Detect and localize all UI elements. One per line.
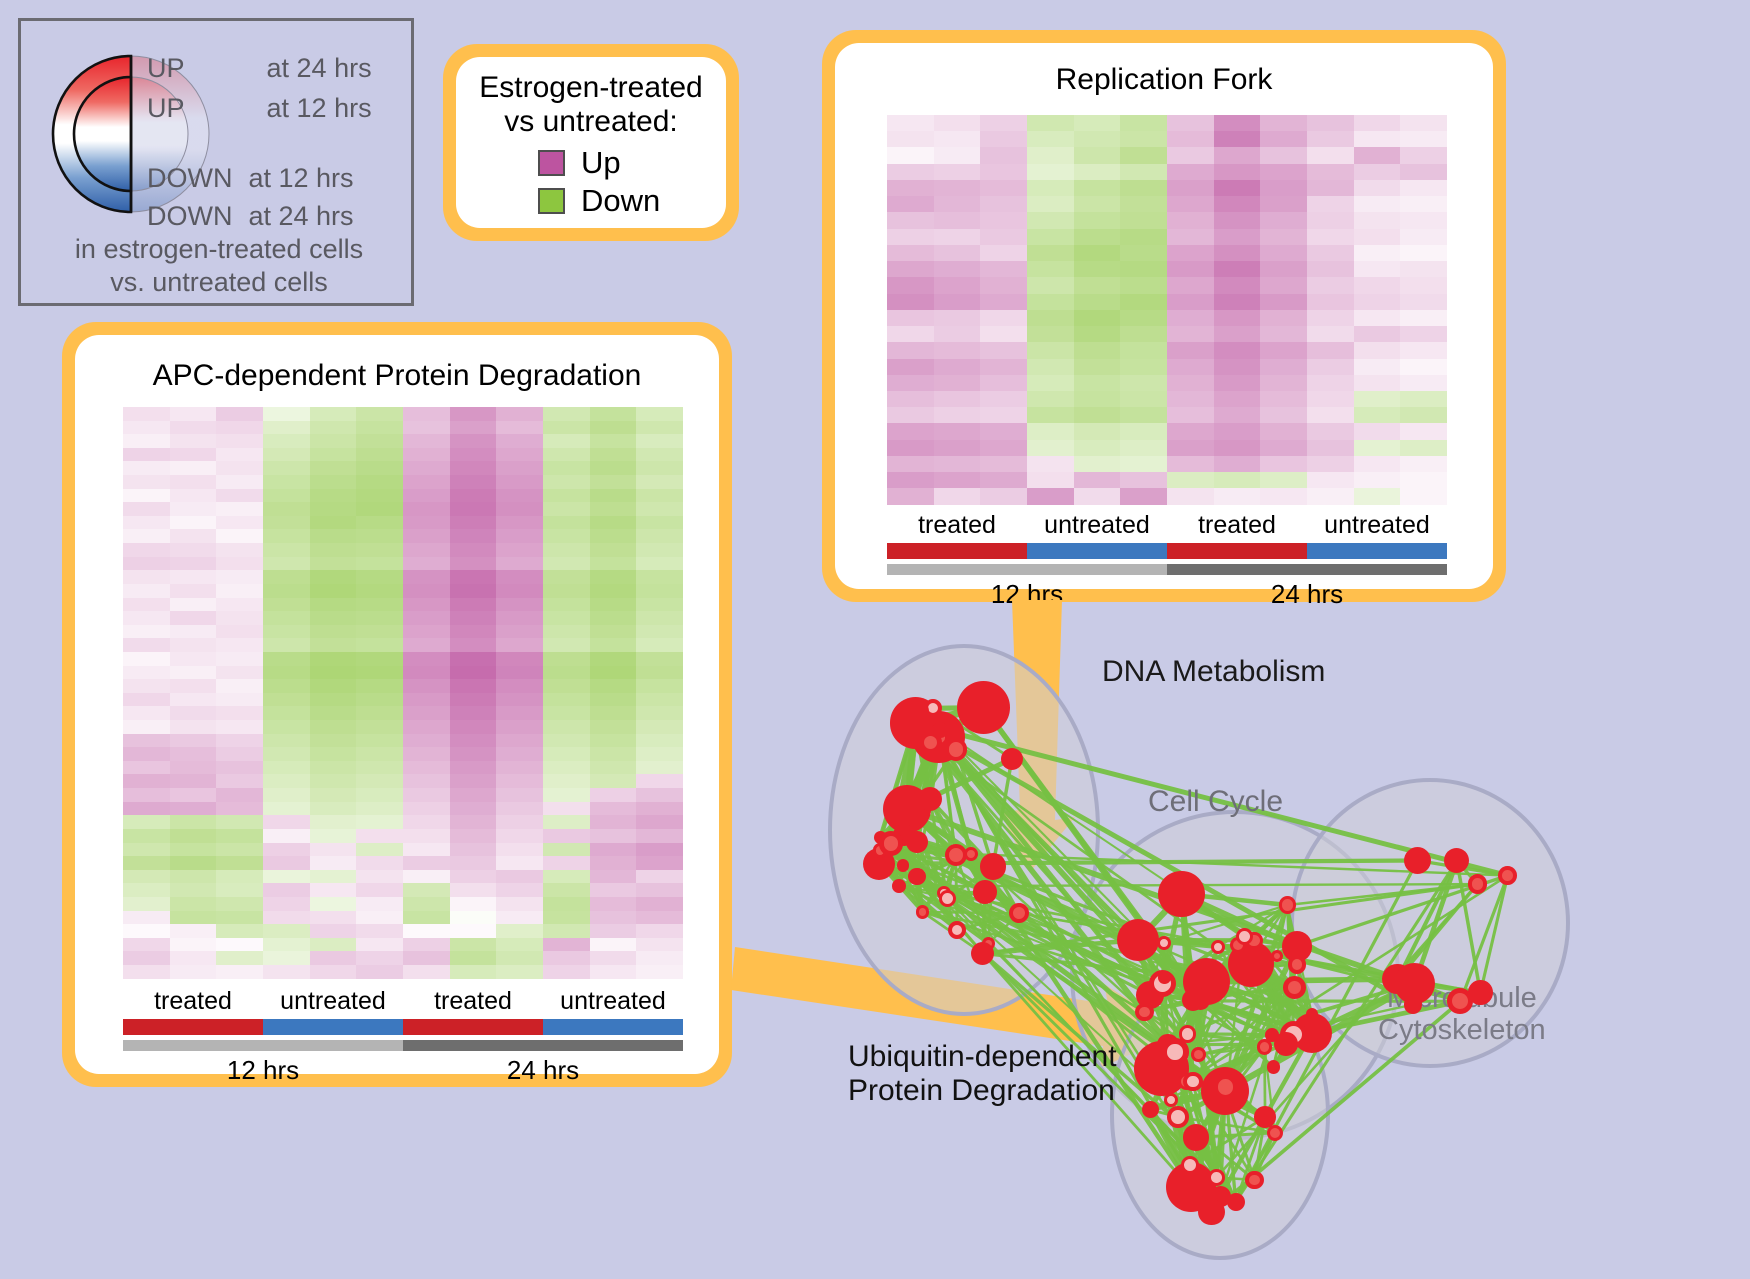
heatmap-cell bbox=[1400, 391, 1447, 407]
network-node[interactable] bbox=[1245, 1171, 1264, 1190]
heatmap-cell bbox=[1167, 229, 1214, 245]
heatmap-cell bbox=[934, 115, 981, 131]
heatmap-cell bbox=[543, 815, 590, 829]
heatmap-cell bbox=[1120, 164, 1167, 180]
network-node[interactable] bbox=[1274, 1032, 1298, 1056]
heatmap-cell bbox=[403, 693, 450, 707]
heatmap-cell bbox=[1400, 456, 1447, 472]
network-node[interactable] bbox=[1404, 995, 1422, 1013]
heatmap-cell bbox=[123, 706, 170, 720]
network-node[interactable] bbox=[1236, 928, 1253, 945]
heatmap-cell bbox=[1214, 391, 1261, 407]
heatmap-cell bbox=[1074, 326, 1121, 342]
network-node[interactable] bbox=[1183, 1124, 1209, 1150]
heatmap-cell bbox=[403, 761, 450, 775]
heatmap-cell bbox=[496, 461, 543, 475]
heatmap-row bbox=[887, 359, 1447, 375]
network-node[interactable] bbox=[1227, 1193, 1245, 1211]
heatmap-cell bbox=[170, 598, 217, 612]
heatmap-cell bbox=[216, 543, 263, 557]
color-key-time: at 12 hrs bbox=[267, 93, 372, 124]
network-node[interactable] bbox=[1257, 1039, 1273, 1055]
heatmap-cell bbox=[1307, 261, 1354, 277]
heatmap-row bbox=[123, 666, 683, 680]
heatmap-cell bbox=[356, 652, 403, 666]
network-node[interactable] bbox=[1211, 940, 1225, 954]
heatmap-cell bbox=[1167, 115, 1214, 131]
heatmap-cell bbox=[590, 693, 637, 707]
heatmap-cell bbox=[263, 802, 310, 816]
heatmap-cell bbox=[216, 448, 263, 462]
legend-item-down: Down bbox=[538, 183, 726, 219]
heatmap-cell bbox=[1400, 310, 1447, 326]
heatmap-cell bbox=[543, 788, 590, 802]
heatmap-cell bbox=[356, 815, 403, 829]
heatmap-cell bbox=[496, 693, 543, 707]
network-node[interactable] bbox=[879, 831, 904, 856]
network-node[interactable] bbox=[1167, 1106, 1189, 1128]
color-key-label: DOWN bbox=[147, 163, 232, 194]
heatmap-cell bbox=[934, 245, 981, 261]
heatmap-cell bbox=[170, 625, 217, 639]
heatmap-cell bbox=[636, 570, 683, 584]
heatmap-cell bbox=[450, 584, 497, 598]
heatmap-cell bbox=[263, 747, 310, 761]
network-node[interactable] bbox=[1288, 955, 1307, 974]
heatmap-row bbox=[123, 815, 683, 829]
heatmap-cell bbox=[403, 652, 450, 666]
heatmap-cell bbox=[543, 421, 590, 435]
heatmap-cell bbox=[123, 448, 170, 462]
heatmap-cell bbox=[123, 407, 170, 421]
heatmap-cell bbox=[263, 788, 310, 802]
heatmap-cell bbox=[636, 693, 683, 707]
heatmap-cell bbox=[590, 475, 637, 489]
heatmap-cell bbox=[403, 570, 450, 584]
network-node[interactable] bbox=[1212, 1073, 1240, 1101]
heatmap-cell bbox=[1260, 115, 1307, 131]
heatmap-cell bbox=[636, 938, 683, 952]
network-node[interactable] bbox=[1279, 896, 1296, 913]
heatmap-cell bbox=[123, 529, 170, 543]
heatmap-row bbox=[887, 423, 1447, 439]
heatmap-cell bbox=[216, 856, 263, 870]
heatmap-row bbox=[123, 706, 683, 720]
heatmap-cell bbox=[1260, 423, 1307, 439]
heatmap-cell bbox=[887, 180, 934, 196]
heatmap-cell bbox=[216, 529, 263, 543]
heatmap-cell bbox=[543, 802, 590, 816]
heatmap-cell bbox=[310, 611, 357, 625]
heatmap-cell bbox=[887, 212, 934, 228]
heatmap-cell bbox=[887, 391, 934, 407]
network-node[interactable] bbox=[1001, 748, 1023, 770]
heatmap-cell bbox=[1120, 440, 1167, 456]
heatmap-cell bbox=[356, 625, 403, 639]
heatmap-cell bbox=[543, 502, 590, 516]
heatmap-cell bbox=[1307, 375, 1354, 391]
heatmap-row bbox=[887, 196, 1447, 212]
network-node[interactable] bbox=[897, 859, 909, 871]
heatmap-cell bbox=[1074, 180, 1121, 196]
heatmap-cell bbox=[216, 911, 263, 925]
heatmap-cell bbox=[403, 951, 450, 965]
heatmap-cell bbox=[590, 843, 637, 857]
heatmap-cell bbox=[590, 489, 637, 503]
heatmap-cell bbox=[450, 965, 497, 979]
heatmap-cell bbox=[543, 856, 590, 870]
group-bar-untreated-12 bbox=[263, 1019, 403, 1035]
heatmap-cell bbox=[1354, 310, 1401, 326]
network-node[interactable] bbox=[916, 905, 929, 918]
network-node[interactable] bbox=[980, 853, 1007, 880]
heatmap-cell bbox=[1307, 359, 1354, 375]
heatmap-cell bbox=[450, 557, 497, 571]
heatmap-cell bbox=[403, 584, 450, 598]
heatmap-cell bbox=[123, 638, 170, 652]
heatmap-cell bbox=[450, 434, 497, 448]
heatmap-cell bbox=[263, 502, 310, 516]
heatmap-cell bbox=[123, 747, 170, 761]
heatmap-cell bbox=[636, 774, 683, 788]
heatmap-row bbox=[123, 761, 683, 775]
heatmap-row bbox=[887, 342, 1447, 358]
heatmap-cell bbox=[1120, 391, 1167, 407]
heatmap-cell bbox=[887, 342, 934, 358]
heatmap-cell bbox=[1354, 423, 1401, 439]
heatmap-cell bbox=[496, 802, 543, 816]
heatmap-cell bbox=[636, 856, 683, 870]
heatmap-row bbox=[887, 245, 1447, 261]
heatmap-cell bbox=[450, 761, 497, 775]
legend-title: Estrogen-treated vs untreated: bbox=[456, 71, 726, 139]
network-node[interactable] bbox=[1498, 866, 1517, 885]
heatmap-cell bbox=[1260, 310, 1307, 326]
heatmap-cell bbox=[590, 516, 637, 530]
heatmap-cell bbox=[1120, 180, 1167, 196]
heatmap-cell bbox=[356, 870, 403, 884]
heatmap-cell bbox=[636, 720, 683, 734]
heatmap-cell bbox=[636, 734, 683, 748]
replication-fork-group-labels: treated untreated treated untreated bbox=[887, 511, 1447, 540]
color-key-footer-line1: in estrogen-treated cells bbox=[21, 233, 417, 266]
heatmap-cell bbox=[216, 557, 263, 571]
heatmap-cell bbox=[636, 802, 683, 816]
heatmap-cell bbox=[543, 679, 590, 693]
heatmap-cell bbox=[1214, 229, 1261, 245]
heatmap-row bbox=[123, 598, 683, 612]
heatmap-cell bbox=[1354, 294, 1401, 310]
heatmap-cell bbox=[356, 529, 403, 543]
group-bar-treated-24 bbox=[403, 1019, 543, 1035]
heatmap-cell bbox=[1307, 407, 1354, 423]
heatmap-cell bbox=[1400, 147, 1447, 163]
heatmap-cell bbox=[1307, 423, 1354, 439]
heatmap-cell bbox=[1307, 164, 1354, 180]
heatmap-cell bbox=[887, 423, 934, 439]
heatmap-row bbox=[887, 147, 1447, 163]
heatmap-cell bbox=[216, 870, 263, 884]
heatmap-cell bbox=[1260, 180, 1307, 196]
heatmap-row bbox=[123, 870, 683, 884]
heatmap-row bbox=[887, 261, 1447, 277]
heatmap-cell bbox=[980, 359, 1027, 375]
heatmap-cell bbox=[636, 625, 683, 639]
network-node[interactable] bbox=[1267, 1125, 1283, 1141]
heatmap-cell bbox=[170, 693, 217, 707]
color-key-time: at 24 hrs bbox=[267, 53, 372, 84]
heatmap-cell bbox=[1307, 294, 1354, 310]
heatmap-cell bbox=[123, 870, 170, 884]
replication-fork-time-labels: 12 hrs 24 hrs bbox=[887, 579, 1447, 610]
heatmap-cell bbox=[310, 856, 357, 870]
heatmap-cell bbox=[123, 557, 170, 571]
heatmap-cell bbox=[216, 652, 263, 666]
heatmap-cell bbox=[496, 448, 543, 462]
heatmap-cell bbox=[310, 843, 357, 857]
heatmap-cell bbox=[1074, 164, 1121, 180]
heatmap-cell bbox=[216, 434, 263, 448]
heatmap-row bbox=[887, 310, 1447, 326]
heatmap-cell bbox=[403, 747, 450, 761]
heatmap-cell bbox=[1167, 196, 1214, 212]
heatmap-cell bbox=[496, 829, 543, 843]
heatmap-cell bbox=[496, 421, 543, 435]
network-node[interactable] bbox=[1191, 1047, 1206, 1062]
heatmap-cell bbox=[263, 461, 310, 475]
heatmap-cell bbox=[403, 543, 450, 557]
heatmap-cell bbox=[450, 611, 497, 625]
heatmap-cell bbox=[263, 924, 310, 938]
heatmap-row bbox=[123, 774, 683, 788]
heatmap-cell bbox=[310, 543, 357, 557]
heatmap-cell bbox=[1074, 131, 1121, 147]
network-node[interactable] bbox=[1135, 1003, 1154, 1022]
heatmap-cell bbox=[636, 911, 683, 925]
heatmap-cell bbox=[450, 747, 497, 761]
heatmap-cell bbox=[263, 706, 310, 720]
heatmap-cell bbox=[1260, 229, 1307, 245]
heatmap-cell bbox=[1074, 472, 1121, 488]
heatmap-cell bbox=[1307, 310, 1354, 326]
heatmap-cell bbox=[356, 924, 403, 938]
heatmap-cell bbox=[543, 951, 590, 965]
heatmap-cell bbox=[543, 529, 590, 543]
heatmap-cell bbox=[1354, 440, 1401, 456]
heatmap-cell bbox=[496, 570, 543, 584]
heatmap-cell bbox=[403, 965, 450, 979]
heatmap-cell bbox=[356, 421, 403, 435]
heatmap-cell bbox=[543, 489, 590, 503]
heatmap-row bbox=[887, 456, 1447, 472]
heatmap-cell bbox=[1214, 180, 1261, 196]
heatmap-row bbox=[123, 897, 683, 911]
cluster-label-cell-cycle: Cell Cycle bbox=[1148, 785, 1283, 819]
network-node[interactable] bbox=[1158, 871, 1204, 917]
heatmap-cell bbox=[543, 407, 590, 421]
network-node[interactable] bbox=[957, 681, 1010, 734]
heatmap-cell bbox=[636, 666, 683, 680]
legend-panel: Estrogen-treated vs untreated: Up Down bbox=[443, 44, 739, 241]
network-node[interactable] bbox=[1283, 976, 1306, 999]
heatmap-cell bbox=[636, 638, 683, 652]
network-node[interactable] bbox=[1208, 1169, 1225, 1186]
heatmap-cell bbox=[496, 407, 543, 421]
heatmap-cell bbox=[263, 611, 310, 625]
heatmap-cell bbox=[216, 625, 263, 639]
heatmap-cell bbox=[543, 761, 590, 775]
heatmap-cell bbox=[450, 883, 497, 897]
legend-item-label: Up bbox=[581, 145, 621, 181]
heatmap-cell bbox=[1214, 196, 1261, 212]
heatmap-cell bbox=[1260, 326, 1307, 342]
network-node[interactable] bbox=[1164, 1093, 1178, 1107]
heatmap-cell bbox=[170, 652, 217, 666]
heatmap-cell bbox=[1074, 245, 1121, 261]
heatmap-cell bbox=[1120, 196, 1167, 212]
heatmap-cell bbox=[1074, 196, 1121, 212]
network-node[interactable] bbox=[892, 879, 906, 893]
heatmap-cell bbox=[1354, 245, 1401, 261]
heatmap-cell bbox=[1027, 488, 1074, 504]
heatmap-cell bbox=[310, 407, 357, 421]
heatmap-cell bbox=[310, 802, 357, 816]
heatmap-cell bbox=[450, 802, 497, 816]
heatmap-cell bbox=[1167, 131, 1214, 147]
heatmap-cell bbox=[1307, 456, 1354, 472]
network-node[interactable] bbox=[1271, 950, 1283, 962]
heatmap-cell bbox=[496, 924, 543, 938]
heatmap-cell bbox=[263, 734, 310, 748]
heatmap-cell bbox=[496, 652, 543, 666]
network-node[interactable] bbox=[1117, 919, 1159, 961]
heatmap-cell bbox=[1400, 115, 1447, 131]
heatmap-cell bbox=[1260, 147, 1307, 163]
heatmap-cell bbox=[1167, 180, 1214, 196]
heatmap-cell bbox=[1120, 407, 1167, 423]
heatmap-cell bbox=[1027, 196, 1074, 212]
heatmap-cell bbox=[496, 666, 543, 680]
heatmap-cell bbox=[450, 638, 497, 652]
network-node[interactable] bbox=[906, 831, 928, 853]
heatmap-cell bbox=[450, 734, 497, 748]
heatmap-cell bbox=[356, 448, 403, 462]
heatmap-cell bbox=[450, 951, 497, 965]
heatmap-cell bbox=[1027, 180, 1074, 196]
heatmap-cell bbox=[934, 407, 981, 423]
heatmap-cell bbox=[123, 502, 170, 516]
heatmap-cell bbox=[636, 529, 683, 543]
heatmap-cell bbox=[1214, 245, 1261, 261]
group-label: treated bbox=[887, 511, 1027, 540]
heatmap-cell bbox=[310, 448, 357, 462]
heatmap-cell bbox=[1074, 229, 1121, 245]
heatmap-cell bbox=[123, 856, 170, 870]
heatmap-cell bbox=[263, 529, 310, 543]
heatmap-cell bbox=[123, 734, 170, 748]
network-node[interactable] bbox=[973, 880, 997, 904]
heatmap-cell bbox=[980, 229, 1027, 245]
heatmap-cell bbox=[263, 829, 310, 843]
network-node[interactable] bbox=[1158, 971, 1171, 984]
replication-fork-group-bar bbox=[887, 543, 1447, 559]
heatmap-cell bbox=[263, 965, 310, 979]
heatmap-row bbox=[123, 747, 683, 761]
heatmap-cell bbox=[590, 529, 637, 543]
heatmap-cell bbox=[403, 666, 450, 680]
network-node[interactable] bbox=[1468, 874, 1488, 894]
heatmap-cell bbox=[636, 448, 683, 462]
heatmap-cell bbox=[450, 652, 497, 666]
heatmap-cell bbox=[1167, 391, 1214, 407]
heatmap-cell bbox=[356, 829, 403, 843]
network-node[interactable] bbox=[1157, 936, 1171, 950]
heatmap-cell bbox=[1307, 342, 1354, 358]
heatmap-cell bbox=[123, 666, 170, 680]
network-node[interactable] bbox=[1161, 1038, 1188, 1065]
heatmap-cell bbox=[543, 829, 590, 843]
heatmap-cell bbox=[590, 666, 637, 680]
heatmap-cell bbox=[636, 815, 683, 829]
heatmap-row bbox=[123, 611, 683, 625]
heatmap-cell bbox=[980, 261, 1027, 277]
heatmap-cell bbox=[636, 475, 683, 489]
network-node[interactable] bbox=[1183, 1072, 1202, 1091]
heatmap-row bbox=[887, 326, 1447, 342]
heatmap-row bbox=[123, 679, 683, 693]
heatmap-cell bbox=[543, 897, 590, 911]
heatmap-cell bbox=[1307, 488, 1354, 504]
heatmap-cell bbox=[263, 897, 310, 911]
legend-items: Up Down bbox=[456, 145, 726, 219]
heatmap-cell bbox=[934, 342, 981, 358]
network-node[interactable] bbox=[1306, 1008, 1318, 1020]
network-node[interactable] bbox=[1198, 1199, 1225, 1226]
heatmap-cell bbox=[934, 456, 981, 472]
heatmap-cell bbox=[450, 897, 497, 911]
apc-heatmap bbox=[123, 407, 683, 979]
heatmap-cell bbox=[1260, 391, 1307, 407]
heatmap-cell bbox=[403, 611, 450, 625]
heatmap-cell bbox=[263, 475, 310, 489]
heatmap-cell bbox=[1260, 456, 1307, 472]
network-node[interactable] bbox=[1267, 1060, 1280, 1073]
heatmap-cell bbox=[590, 706, 637, 720]
heatmap-cell bbox=[310, 911, 357, 925]
heatmap-cell bbox=[1074, 261, 1121, 277]
network-node[interactable] bbox=[932, 722, 948, 738]
network-node[interactable] bbox=[908, 868, 925, 885]
heatmap-cell bbox=[496, 706, 543, 720]
heatmap-cell bbox=[590, 679, 637, 693]
heatmap-cell bbox=[1120, 326, 1167, 342]
network-node[interactable] bbox=[945, 738, 968, 761]
heatmap-cell bbox=[1120, 375, 1167, 391]
heatmap-cell bbox=[1400, 407, 1447, 423]
group-bar-untreated-12 bbox=[1027, 543, 1167, 559]
heatmap-cell bbox=[356, 774, 403, 788]
heatmap-cell bbox=[1214, 131, 1261, 147]
color-key-time: at 12 hrs bbox=[248, 163, 353, 194]
heatmap-cell bbox=[1120, 115, 1167, 131]
heatmap-cell bbox=[1214, 326, 1261, 342]
heatmap-cell bbox=[887, 245, 934, 261]
heatmap-cell bbox=[1400, 375, 1447, 391]
heatmap-cell bbox=[980, 164, 1027, 180]
heatmap-cell bbox=[170, 951, 217, 965]
network-node[interactable] bbox=[939, 890, 956, 907]
heatmap-cell bbox=[356, 638, 403, 652]
